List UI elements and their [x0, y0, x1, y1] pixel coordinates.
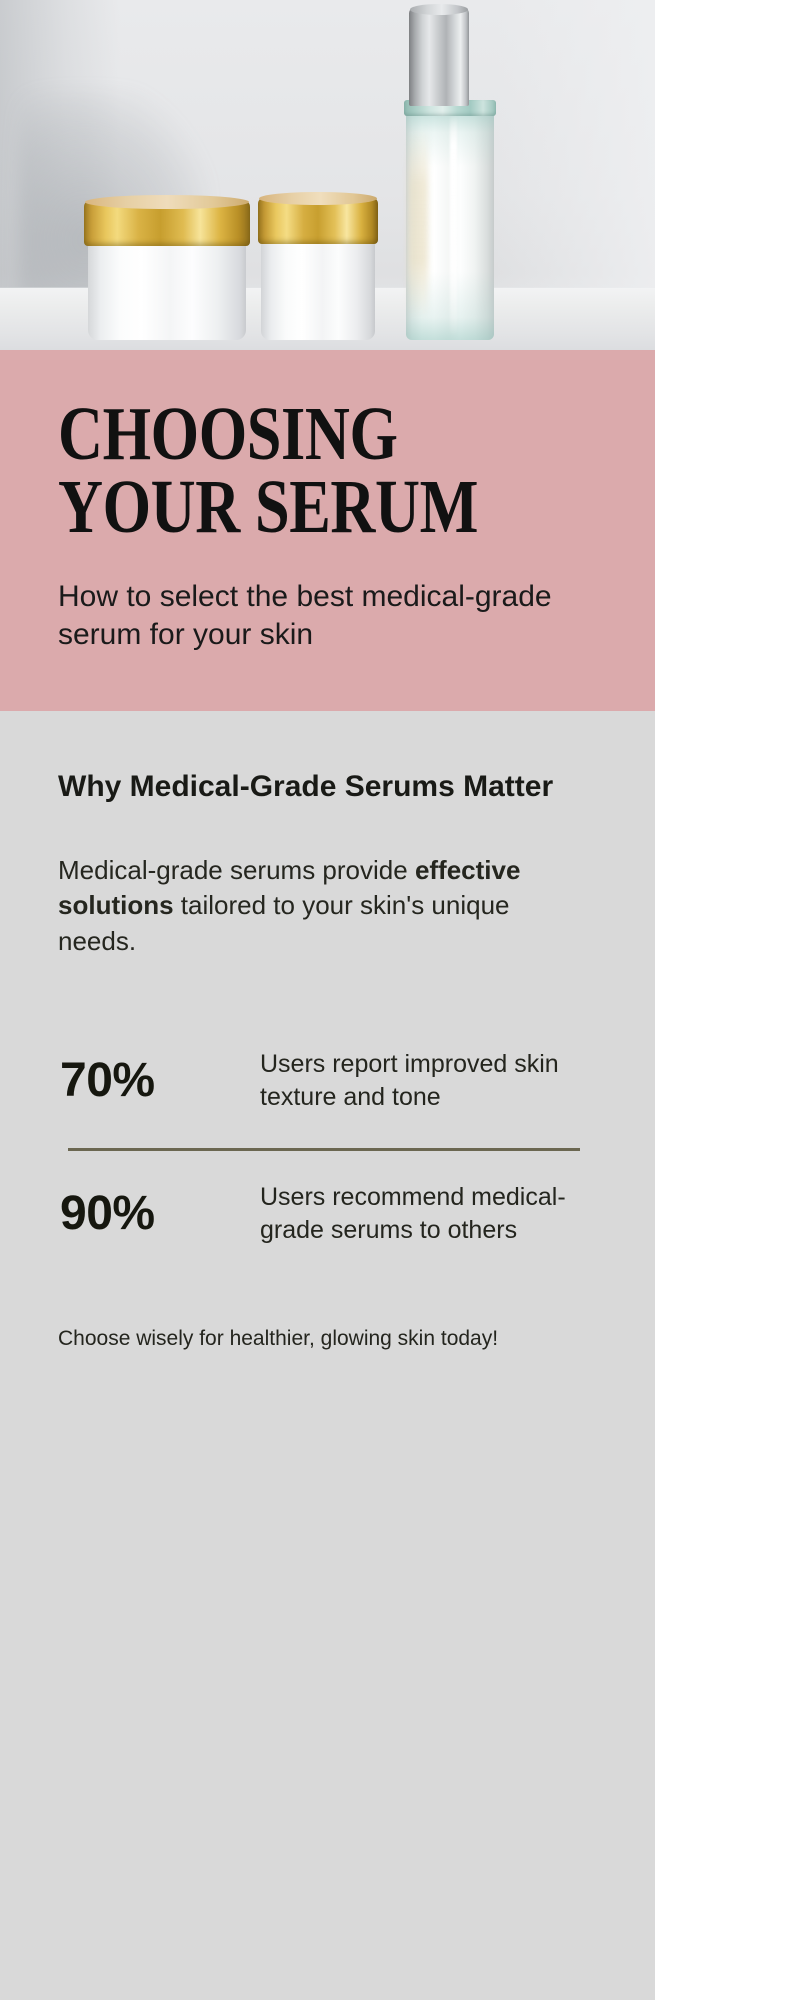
stat-value: 70% — [60, 1055, 250, 1108]
body-lead: Medical-grade serums provide — [58, 855, 415, 885]
stat-item: 90% Users recommend medical-grade serums… — [58, 1181, 597, 1247]
statistics-group: 70% Users report improved skin texture a… — [58, 1048, 597, 1247]
title-band: CHOOSING YOUR SERUM How to select the be… — [0, 350, 655, 711]
jar-body — [88, 244, 246, 340]
footer-note: Choose wisely for healthier, glowing ski… — [58, 1325, 558, 1353]
jar-lid-top — [259, 192, 377, 205]
serum-pump-bottle — [404, 8, 496, 340]
stat-value: 90% — [60, 1188, 250, 1241]
stat-label: Users report improved skin texture and t… — [260, 1048, 597, 1114]
infographic-poster: CHOOSING YOUR SERUM How to select the be… — [0, 0, 655, 2000]
cream-jar-small — [258, 197, 378, 340]
content-section: Why Medical-Grade Serums Matter Medical-… — [0, 711, 655, 1354]
bottle-silver-cap — [409, 8, 469, 106]
stat-label: Users recommend medical-grade serums to … — [260, 1181, 597, 1247]
cream-jar-large — [84, 200, 250, 340]
bottle-cap-top — [410, 4, 468, 15]
bottle-label-shadow — [408, 128, 428, 318]
stat-item: 70% Users report improved skin texture a… — [58, 1048, 597, 1114]
jar-body — [261, 242, 375, 340]
page-title: CHOOSING YOUR SERUM — [58, 398, 500, 544]
stat-divider — [68, 1148, 580, 1151]
jar-lid-top — [85, 195, 249, 209]
hero-product-photo — [0, 0, 655, 350]
page-subtitle: How to select the best medical-grade ser… — [58, 578, 588, 655]
section-heading: Why Medical-Grade Serums Matter — [58, 767, 558, 807]
body-paragraph: Medical-grade serums provide effective s… — [58, 853, 578, 961]
bottle-highlight — [450, 114, 457, 336]
